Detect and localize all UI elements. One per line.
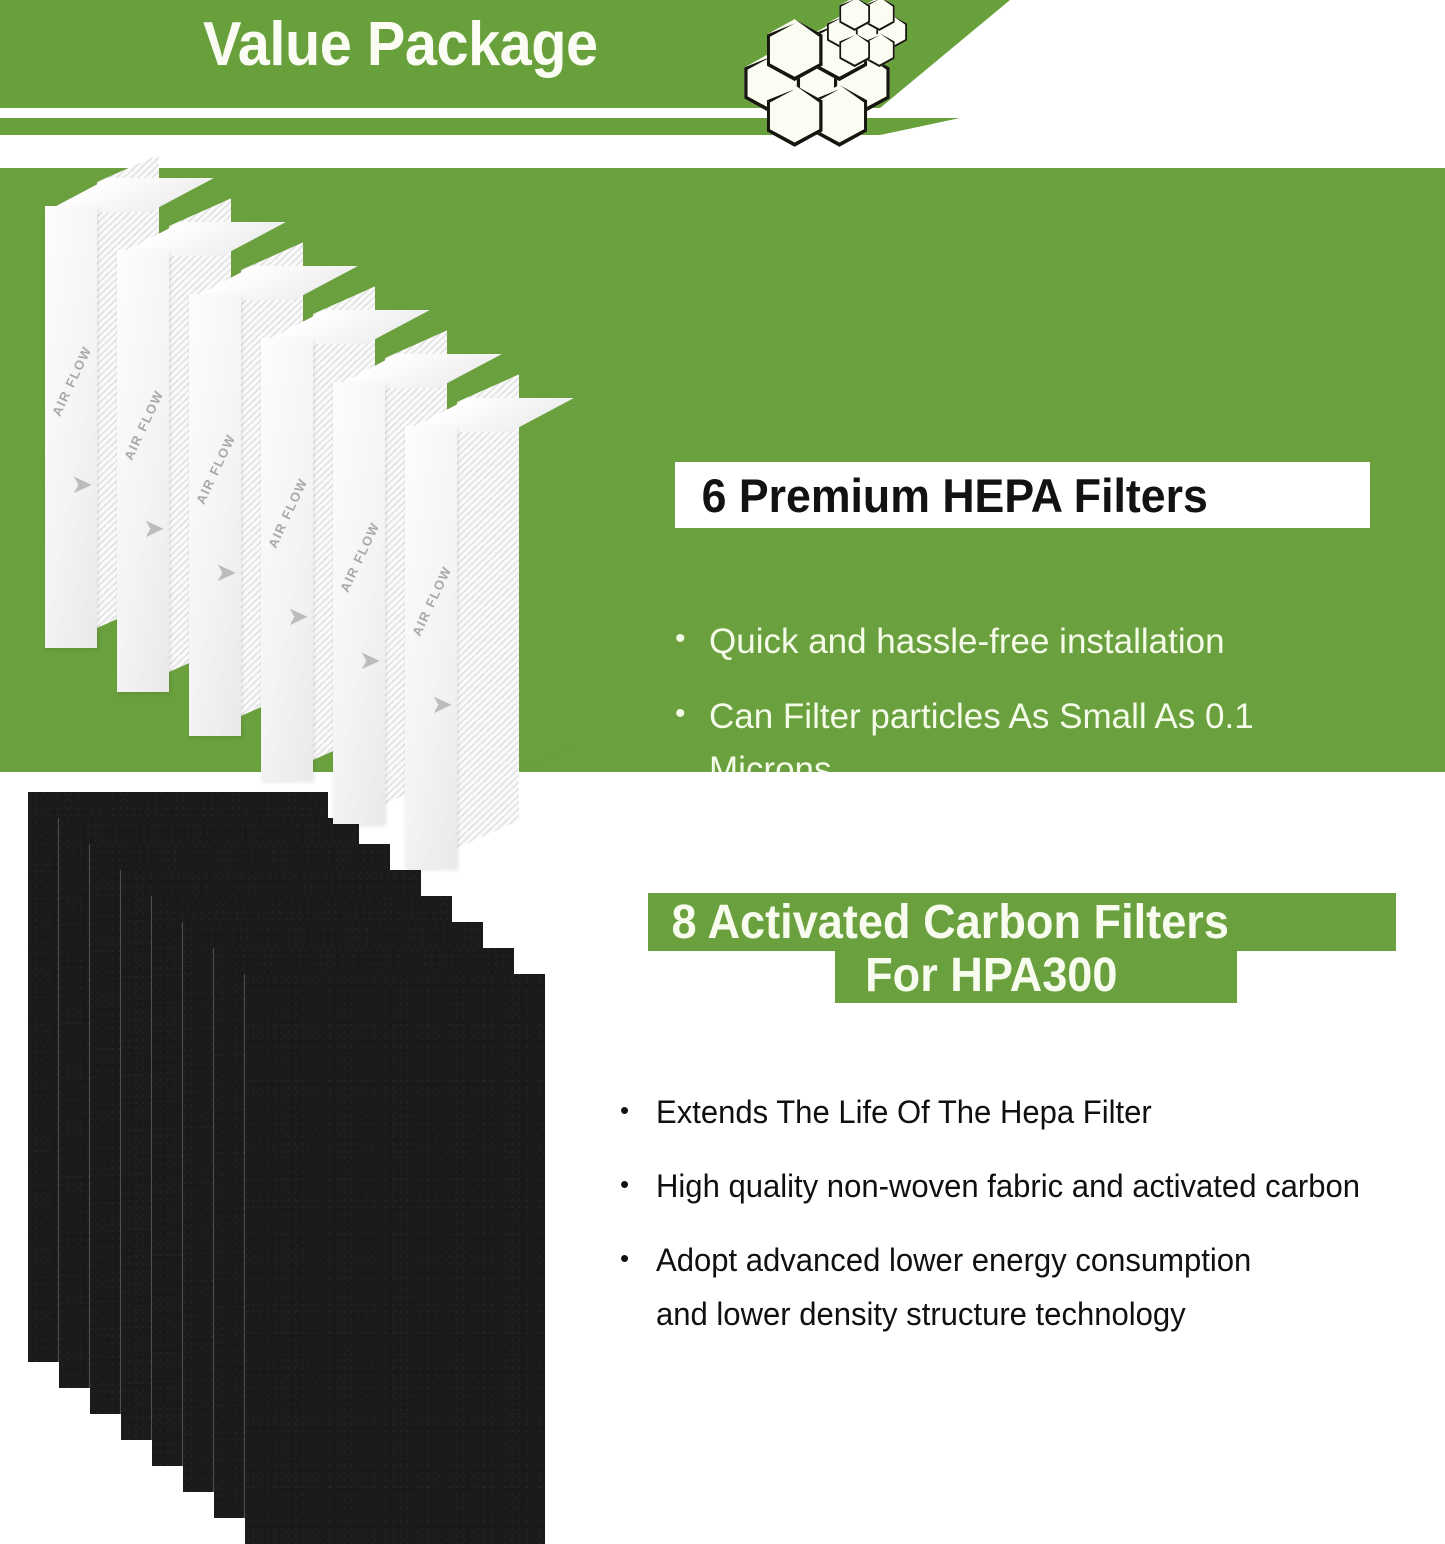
list-item: • Extends The Life Of The Hepa Filter xyxy=(620,1088,1440,1136)
hepa-panel-face: AIR FLOW➤ xyxy=(333,382,385,824)
list-item-label: Adopt advanced lower energy consumption xyxy=(656,1236,1251,1284)
list-item: • Adopt advanced lower energy consumptio… xyxy=(620,1236,1440,1284)
list-item-continuation: and lower density structure technology xyxy=(620,1290,1440,1338)
list-item-label: Extends The Life Of The Hepa Filter xyxy=(656,1088,1152,1136)
airflow-arrow-icon: ➤ xyxy=(143,518,169,540)
hexagon-cluster-small-icon xyxy=(812,2,922,62)
bullet-marker-icon: • xyxy=(620,1088,656,1136)
bullet-spacer xyxy=(620,1290,656,1338)
carbon-title-line1-tag: 8 Activated Carbon Filters xyxy=(648,893,1396,951)
airflow-arrow-icon: ➤ xyxy=(359,650,385,672)
carbon-filter-stack-image xyxy=(28,792,648,1432)
bullet-marker-icon: • xyxy=(620,1236,656,1284)
hepa-panel-face: AIR FLOW➤ xyxy=(189,294,241,736)
hepa-filter-stack-image: AIR FLOW➤AIR FLOW➤AIR FLOW➤AIR FLOW➤AIR … xyxy=(45,178,645,763)
carbon-title-line2-tag: For HPA300 xyxy=(835,948,1237,1003)
airflow-arrow-icon: ➤ xyxy=(287,606,313,628)
hepa-panel-face: AIR FLOW➤ xyxy=(117,250,169,692)
list-item-label: and lower density structure technology xyxy=(656,1290,1186,1338)
list-item-label: Quick and hassle-free installation xyxy=(709,615,1225,668)
hepa-panel-face: AIR FLOW➤ xyxy=(405,426,457,868)
bullet-marker-icon: • xyxy=(620,1162,656,1210)
hepa-title: 6 Premium HEPA Filters xyxy=(675,468,1208,523)
carbon-title-line1: 8 Activated Carbon Filters xyxy=(648,895,1229,950)
hepa-panel-pleats xyxy=(457,374,519,848)
hepa-panel-face: AIR FLOW➤ xyxy=(261,338,313,780)
carbon-title-line2: For HPA300 xyxy=(835,948,1117,1003)
airflow-arrow-icon: ➤ xyxy=(71,474,97,496)
hepa-title-box: 6 Premium HEPA Filters xyxy=(675,462,1370,528)
carbon-filter-sheet xyxy=(245,974,545,1544)
airflow-arrow-icon: ➤ xyxy=(431,694,457,716)
page-title: Value Package xyxy=(203,6,598,84)
section-hepa-filters: AIR FLOW➤AIR FLOW➤AIR FLOW➤AIR FLOW➤AIR … xyxy=(0,168,1445,772)
carbon-bullet-list: • Extends The Life Of The Hepa Filter • … xyxy=(620,1088,1440,1364)
page-header: Value Package xyxy=(0,0,1445,150)
list-item: • Quick and hassle-free installation xyxy=(675,615,1375,668)
list-item-label: High quality non-woven fabric and activa… xyxy=(656,1162,1360,1210)
list-item: • High quality non-woven fabric and acti… xyxy=(620,1162,1440,1210)
bullet-marker-icon: • xyxy=(675,615,709,668)
hepa-filter-panel: AIR FLOW➤ xyxy=(405,398,517,868)
hepa-panel-face: AIR FLOW➤ xyxy=(45,206,97,648)
airflow-arrow-icon: ➤ xyxy=(215,562,241,584)
